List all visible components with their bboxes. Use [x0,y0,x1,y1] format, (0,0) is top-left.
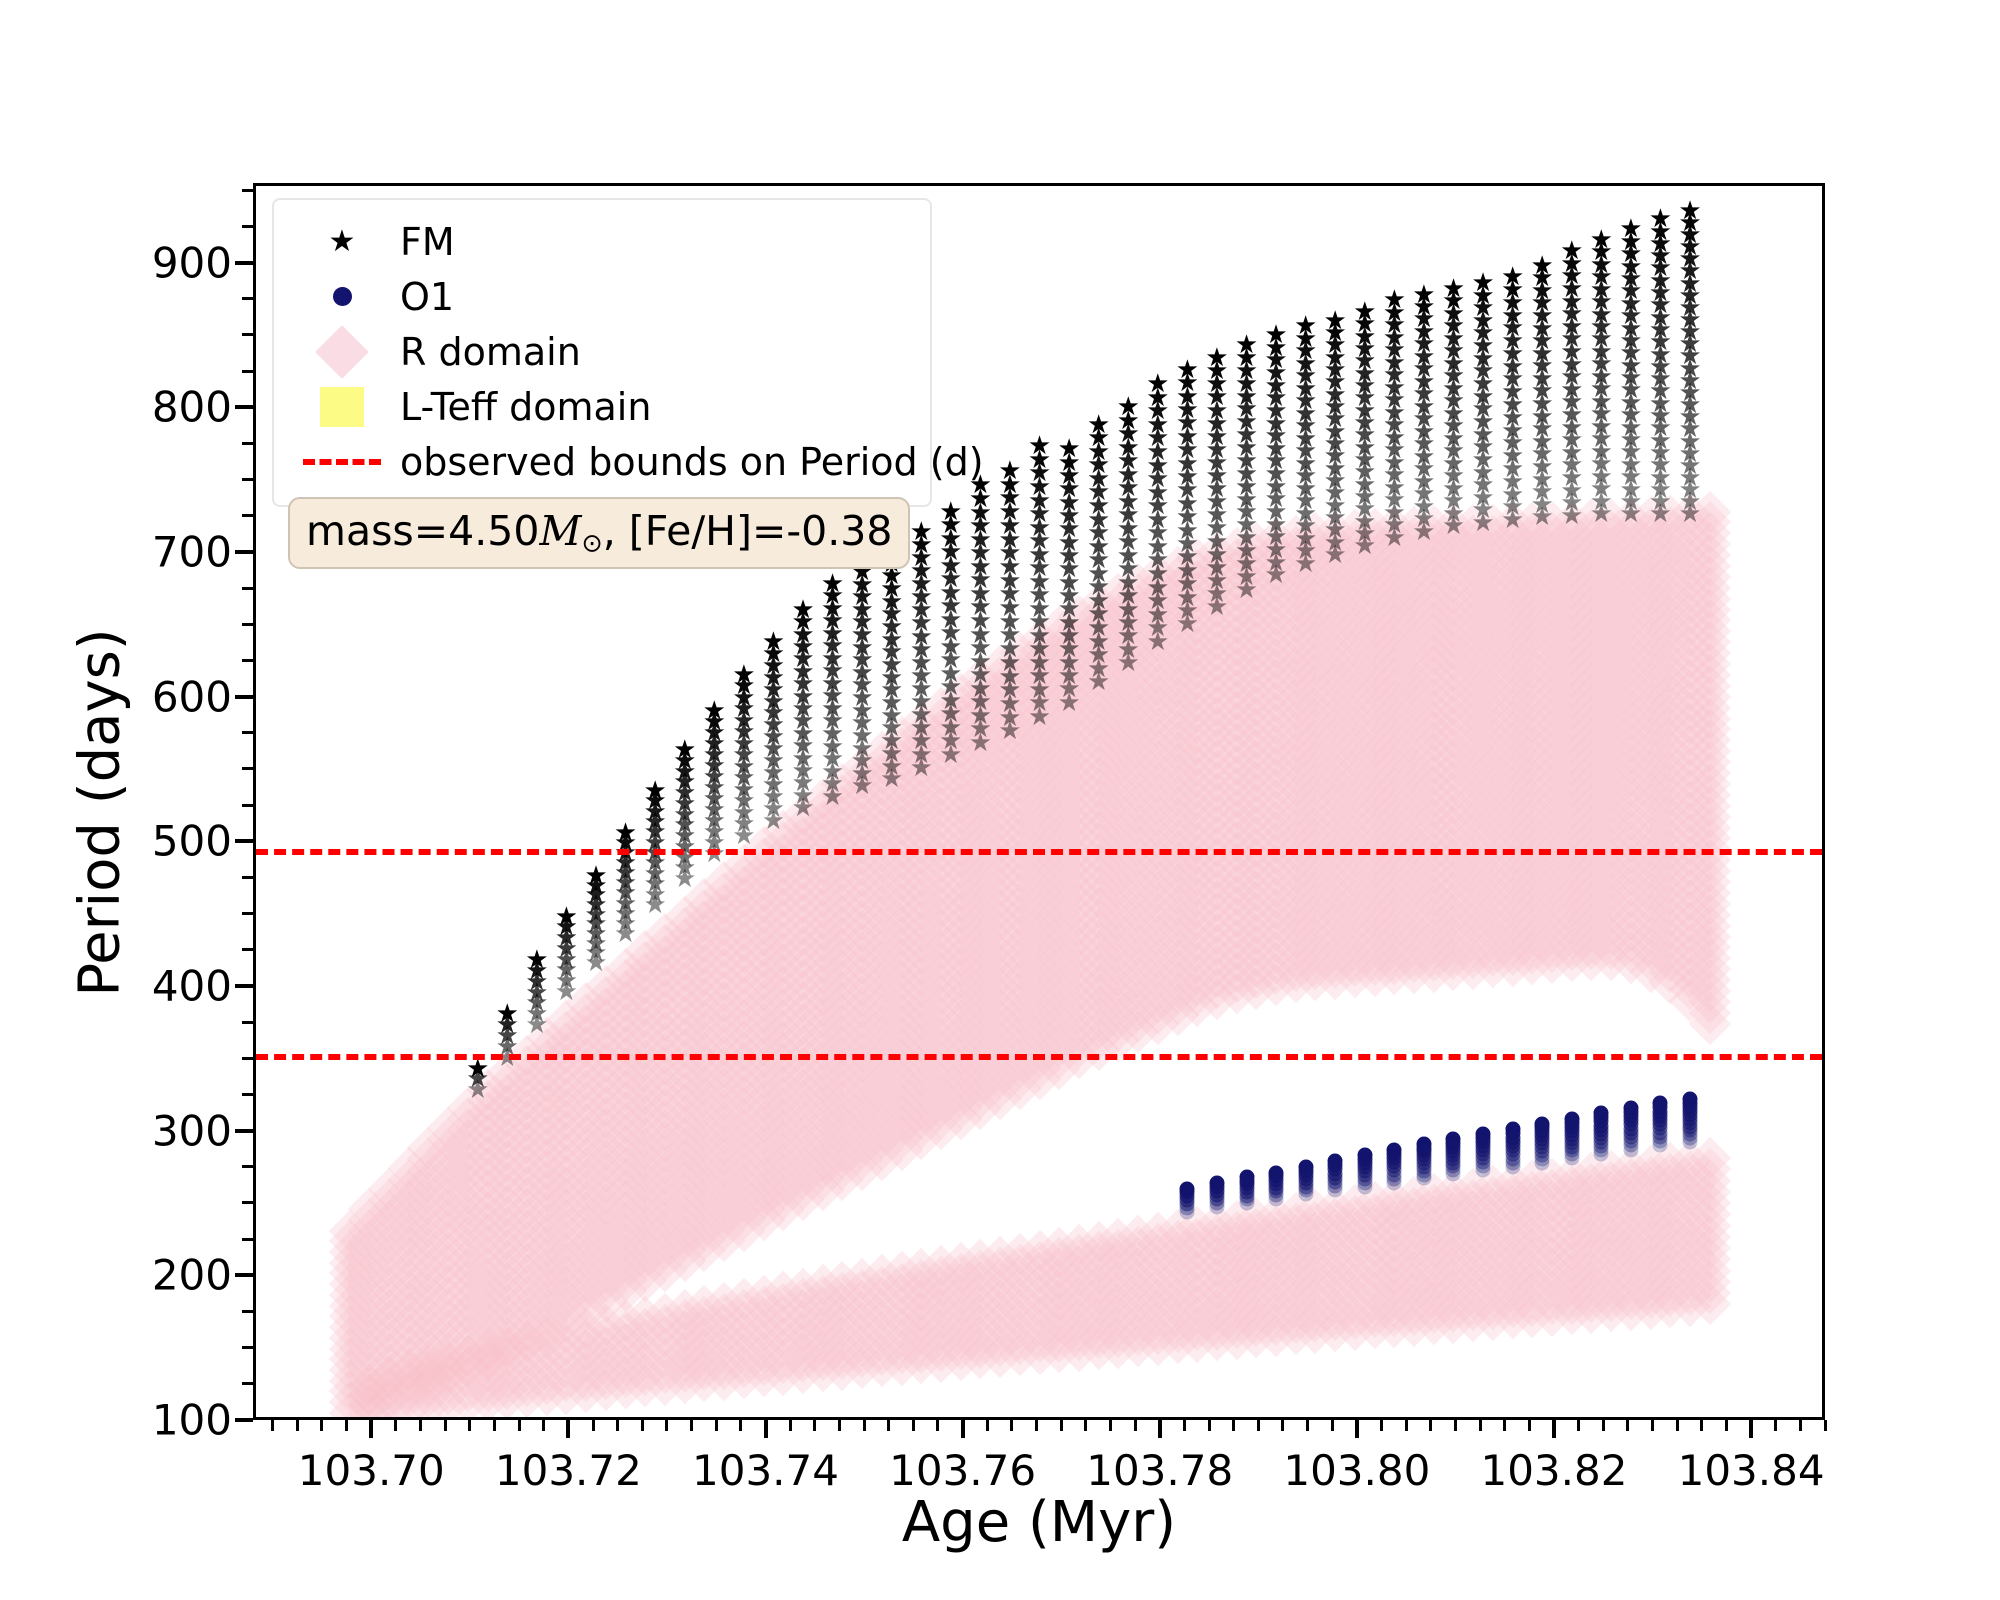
o1-marker [1594,1146,1609,1161]
annotation-mass-prefix: mass=4.50 [306,507,539,555]
fm-marker: ★ [1028,433,1051,459]
dot-icon [292,287,392,306]
dashed-line-icon [292,459,392,465]
o1-marker [1535,1155,1550,1170]
fm-marker: ★ [910,519,933,545]
o1-marker [1298,1187,1313,1202]
y-tick [235,405,253,409]
fm-marker: ★ [1176,357,1199,383]
fm-marker: ★ [584,863,607,889]
y-tick-minor [242,1021,253,1024]
o1-marker [1505,1159,1520,1174]
y-tick-label: 800 [152,383,232,432]
fm-marker: ★ [644,778,667,804]
fm-marker: ★ [732,662,755,688]
o1-marker [1357,1180,1372,1195]
y-tick [235,261,253,265]
figure-canvas: ★★★★★★★★★★★★★★★★★★★★★★★★★★★★★★★★★★★★★★★★… [0,0,2000,1600]
fm-marker: ★ [1235,332,1258,358]
x-tick-label: 103.78 [1086,1446,1233,1495]
y-tick [235,550,253,554]
x-tick-label: 103.80 [1283,1446,1430,1495]
y-tick-label: 200 [152,1251,232,1300]
y-tick-minor [242,514,253,517]
y-tick-label: 700 [152,527,232,576]
o1-marker [1653,1138,1668,1153]
y-tick-minor [242,1165,253,1168]
fm-marker: ★ [1560,238,1583,264]
legend-label-o1: O1 [392,275,454,319]
y-tick-minor [242,1346,253,1349]
y-tick-minor [242,623,253,626]
fm-marker: ★ [939,499,962,525]
y-tick-minor [242,659,253,662]
fm-marker: ★ [703,698,726,724]
o1-marker [1416,1171,1431,1186]
fm-marker: ★ [1264,322,1287,348]
fm-marker: ★ [762,629,785,655]
y-tick-label: 100 [152,1396,232,1445]
y-axis-title: Period (days) [68,193,133,1433]
y-tick-minor [242,225,253,228]
fm-marker: ★ [791,597,814,623]
fm-marker: ★ [1678,198,1701,224]
fm-marker: ★ [1531,253,1554,279]
y-tick-minor [242,587,253,590]
annotation-solar-subscript: ⊙ [581,527,602,557]
fm-marker: ★ [673,737,696,763]
y-tick-minor [242,804,253,807]
y-tick [235,1129,253,1133]
legend[interactable]: ★ FM O1 R domain L-Teff domain observed … [272,198,932,507]
y-tick [235,839,253,843]
y-tick-minor [242,767,253,770]
fm-marker: ★ [1471,270,1494,296]
fm-marker: ★ [1501,264,1524,290]
y-tick [235,984,253,988]
fm-marker: ★ [821,571,844,597]
y-tick-minor [242,1201,253,1204]
o1-marker [1269,1191,1284,1206]
fm-marker: ★ [1324,308,1347,334]
fm-marker: ★ [1649,206,1672,232]
x-tick-label: 103.74 [692,1446,839,1495]
y-tick-minor [242,1093,253,1096]
y-tick [235,1273,253,1277]
x-tick-label: 103.84 [1678,1446,1825,1495]
fm-marker: ★ [1442,276,1465,302]
fm-marker: ★ [1619,216,1642,242]
fm-marker: ★ [1057,436,1080,462]
fm-marker: ★ [1087,412,1110,438]
y-tick-minor [242,876,253,879]
o1-marker [1209,1200,1224,1215]
x-tick-label: 103.76 [889,1446,1036,1495]
y-tick-label: 600 [152,672,232,721]
y-tick-minor [242,189,253,192]
annotation-feh: , [Fe/H]=-0.38 [603,507,893,555]
y-tick-minor [242,731,253,734]
o1-marker [1446,1167,1461,1182]
x-axis-title: Age (Myr) [253,1490,1825,1555]
o1-marker [1239,1196,1254,1211]
y-tick-minor [242,297,253,300]
square-icon [292,387,392,427]
legend-item-r-domain[interactable]: R domain [292,324,912,379]
legend-label-r-domain: R domain [392,330,581,374]
o1-marker [1476,1162,1491,1177]
annotation-mass-symbol: M [539,507,581,555]
fm-marker: ★ [1294,313,1317,339]
y-tick-minor [242,370,253,373]
y-tick [235,695,253,699]
legend-item-o1[interactable]: O1 [292,269,912,324]
legend-label-observed-bounds: observed bounds on Period (d) [392,440,984,484]
x-tick-label: 103.82 [1480,1446,1627,1495]
fm-marker: ★ [1353,299,1376,325]
y-tick-minor [242,1382,253,1385]
x-axis-tick-labels: 103.70103.72103.74103.76103.78103.80103.… [253,1420,1825,1500]
y-tick-minor [242,912,253,915]
fm-marker: ★ [555,904,578,930]
diamond-icon [292,333,392,371]
legend-item-lteff-domain[interactable]: L-Teff domain [292,379,912,434]
y-tick-label: 400 [152,961,232,1010]
fm-marker: ★ [614,820,637,846]
fm-marker: ★ [1146,371,1169,397]
observed-bound-line [256,1054,1822,1060]
fm-marker: ★ [1412,282,1435,308]
model-parameters-annotation: mass=4.50M⊙, [Fe/H]=-0.38 [288,497,910,569]
observed-bound-line [256,849,1822,855]
y-tick-minor [242,1238,253,1241]
o1-marker [1387,1175,1402,1190]
o1-marker [1623,1142,1638,1157]
fm-marker: ★ [1205,345,1228,371]
y-tick-minor [242,1310,253,1313]
y-tick-minor [242,333,253,336]
legend-item-observed-bounds[interactable]: observed bounds on Period (d) [292,434,912,489]
x-tick-label: 103.70 [298,1446,445,1495]
y-tick-label: 500 [152,817,232,866]
y-tick-label: 300 [152,1106,232,1155]
fm-marker: ★ [525,947,548,973]
y-tick-minor [242,948,253,951]
fm-marker: ★ [1590,227,1613,253]
x-tick-label: 103.72 [495,1446,642,1495]
y-tick-label: 900 [152,238,232,287]
o1-marker [1180,1204,1195,1219]
y-tick-minor [242,478,253,481]
fm-marker: ★ [1117,394,1140,420]
y-tick [235,1418,253,1422]
y-tick-minor [242,1057,253,1060]
fm-marker: ★ [998,458,1021,484]
fm-marker: ★ [496,1001,519,1027]
o1-marker [1328,1183,1343,1198]
o1-marker [1683,1135,1698,1150]
legend-label-fm: FM [392,220,455,264]
o1-marker [1564,1151,1579,1166]
star-icon: ★ [292,227,392,257]
y-tick-minor [242,442,253,445]
legend-label-lteff-domain: L-Teff domain [392,385,651,429]
fm-marker: ★ [1383,287,1406,313]
legend-item-fm[interactable]: ★ FM [292,214,912,269]
